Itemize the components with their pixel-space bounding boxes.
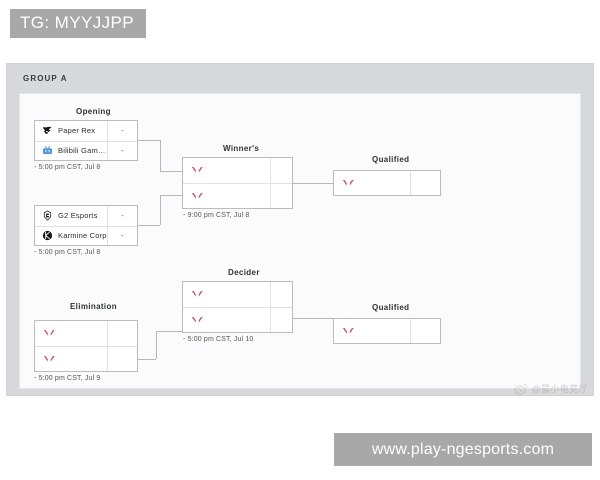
match-box-qualified-upper[interactable] — [333, 170, 441, 196]
valorant-tbd-logo — [191, 315, 204, 326]
score-cell: - — [107, 206, 137, 226]
connector-line — [160, 140, 161, 171]
score-cell — [270, 308, 292, 332]
team-cell — [334, 171, 410, 195]
table-row[interactable] — [183, 307, 292, 332]
connector-line — [156, 331, 182, 332]
group-panel: GROUP A Opening Winner's Qualified Elimi… — [6, 63, 594, 396]
valorant-tbd-logo — [191, 191, 204, 202]
score-cell: - — [107, 121, 137, 141]
table-row[interactable] — [183, 158, 292, 183]
team-name: Paper Rex — [58, 126, 95, 135]
score-cell: - — [107, 142, 137, 161]
bilibili-gaming-logo — [42, 145, 53, 156]
team-cell: G2 Esports — [35, 206, 107, 226]
score-cell — [107, 321, 137, 346]
valorant-tbd-logo — [43, 354, 56, 365]
valorant-tbd-logo — [191, 165, 204, 176]
table-row[interactable]: G2 Esports - — [35, 206, 137, 226]
connector-line — [293, 318, 333, 319]
round-title-decider: Decider — [228, 268, 260, 277]
team-cell — [183, 158, 270, 183]
match-time-opening-1: - 5:00 pm CST, Jul 8 — [34, 164, 100, 171]
team-cell — [183, 184, 270, 208]
round-title-elimination: Elimination — [70, 302, 117, 311]
table-row[interactable]: Paper Rex - — [35, 121, 137, 141]
table-row[interactable] — [35, 346, 137, 371]
round-title-qualified-upper: Qualified — [372, 155, 409, 164]
table-row[interactable] — [334, 319, 440, 343]
connector-line — [138, 359, 156, 360]
score-cell — [270, 158, 292, 183]
score-cell — [270, 282, 292, 307]
match-box-decider[interactable] — [182, 281, 293, 333]
team-cell: Karmine Corp — [35, 227, 107, 246]
match-time-decider: - 5:00 pm CST, Jul 10 — [183, 336, 253, 343]
bracket-canvas: Opening Winner's Qualified Elimination D… — [19, 93, 581, 389]
table-row[interactable] — [183, 183, 292, 208]
paper-rex-logo — [42, 125, 53, 136]
match-time-winners: - 9:00 pm CST, Jul 8 — [183, 212, 249, 219]
table-row[interactable] — [183, 282, 292, 307]
team-cell — [35, 321, 107, 346]
score-cell — [410, 171, 440, 195]
table-row[interactable]: Bilibili Gaming - — [35, 141, 137, 161]
match-box-winners[interactable] — [182, 157, 293, 209]
team-cell — [183, 282, 270, 307]
match-time-opening-2: - 5:00 pm CST, Jul 8 — [34, 249, 100, 256]
team-cell — [334, 319, 410, 343]
karmine-corp-logo — [42, 230, 53, 241]
tg-overlay-tag: TG: MYYJJPP — [10, 9, 146, 38]
match-box-opening-2[interactable]: G2 Esports - Karmine Corp - — [34, 205, 138, 246]
round-title-qualified-lower: Qualified — [372, 303, 409, 312]
valorant-tbd-logo — [342, 326, 355, 337]
valorant-tbd-logo — [43, 328, 56, 339]
valorant-tbd-logo — [342, 178, 355, 189]
g2-esports-logo — [42, 210, 53, 221]
table-row[interactable] — [334, 171, 440, 195]
team-cell — [183, 308, 270, 332]
connector-line — [138, 225, 160, 226]
team-cell — [35, 347, 107, 371]
score-cell — [410, 319, 440, 343]
team-cell: Paper Rex — [35, 121, 107, 141]
connector-line — [160, 171, 182, 172]
url-banner: www.play-ngesports.com — [334, 433, 592, 466]
connector-line — [160, 195, 161, 225]
valorant-tbd-logo — [191, 289, 204, 300]
round-title-opening: Opening — [76, 107, 111, 116]
score-cell — [107, 347, 137, 371]
connector-line — [160, 195, 182, 196]
group-header: GROUP A — [7, 64, 593, 92]
connector-line — [293, 183, 333, 184]
match-box-opening-1[interactable]: Paper Rex - Bilibili Gaming - — [34, 120, 138, 161]
connector-line — [156, 331, 157, 359]
team-cell: Bilibili Gaming — [35, 142, 107, 161]
table-row[interactable] — [35, 321, 137, 346]
match-box-elimination[interactable] — [34, 320, 138, 372]
team-name: Karmine Corp — [58, 231, 107, 240]
round-title-winners: Winner's — [223, 144, 259, 153]
connector-line — [138, 140, 160, 141]
score-cell — [270, 184, 292, 208]
team-name: G2 Esports — [58, 211, 98, 220]
match-box-qualified-lower[interactable] — [333, 318, 441, 344]
match-time-elimination: - 5:00 pm CST, Jul 9 — [34, 375, 100, 382]
group-header-label: GROUP A — [23, 74, 68, 83]
team-name: Bilibili Gaming — [58, 146, 107, 155]
table-row[interactable]: Karmine Corp - — [35, 226, 137, 246]
score-cell: - — [107, 227, 137, 246]
